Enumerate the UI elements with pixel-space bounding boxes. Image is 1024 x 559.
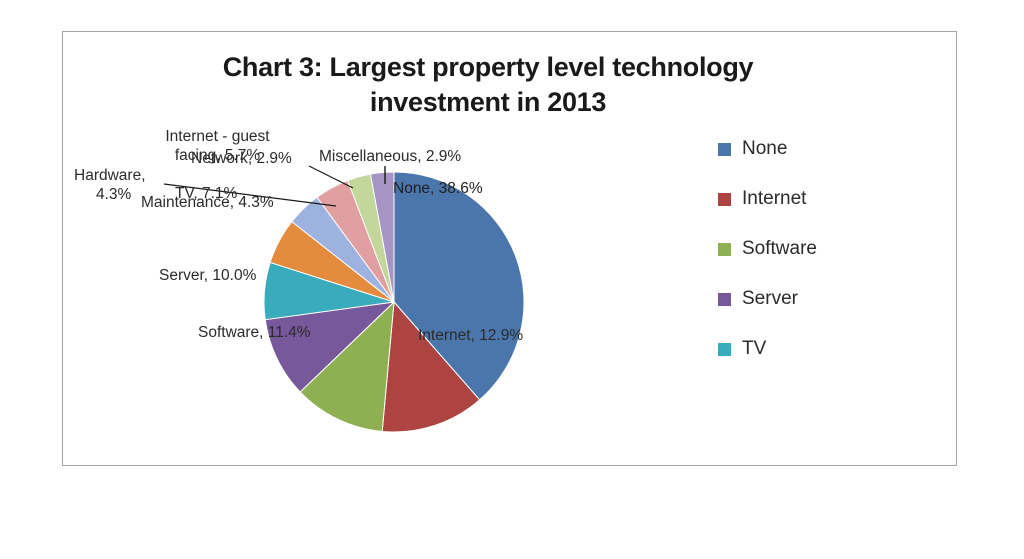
- data-label-none: None, 38.6%: [393, 180, 483, 199]
- data-label-hardware-line-1: Hardware,: [74, 167, 146, 186]
- data-label-internet-guest-line-1: Internet - guest: [145, 128, 290, 147]
- chart-title: Chart 3: Largest property level technolo…: [83, 50, 893, 120]
- legend-item-label: TV: [742, 338, 766, 360]
- legend-swatch-icon: [718, 193, 731, 206]
- legend-swatch-icon: [718, 343, 731, 356]
- chart-frame: Chart 3: Largest property level technolo…: [62, 31, 957, 466]
- data-label-network: Network, 2.9%: [191, 150, 292, 169]
- legend-swatch-icon: [718, 293, 731, 306]
- data-label-server: Server, 10.0%: [159, 267, 256, 286]
- legend-item-software[interactable]: Software: [718, 224, 918, 274]
- chart-title-line-1: Chart 3: Largest property level technolo…: [83, 50, 893, 85]
- legend-swatch-icon: [718, 143, 731, 156]
- legend-item-label: Server: [742, 288, 798, 310]
- legend-item-none[interactable]: None: [718, 124, 918, 174]
- pie-chart: [263, 171, 525, 433]
- data-label-miscellaneous: Miscellaneous, 2.9%: [319, 148, 461, 167]
- chart-legend: NoneInternetSoftwareServerTV: [718, 124, 918, 374]
- legend-swatch-icon: [718, 243, 731, 256]
- data-label-internet: Internet, 12.9%: [418, 327, 523, 346]
- legend-item-tv[interactable]: TV: [718, 324, 918, 374]
- legend-item-label: None: [742, 138, 787, 160]
- data-label-software: Software, 11.4%: [198, 324, 311, 343]
- chart-title-line-2: investment in 2013: [83, 85, 893, 120]
- data-label-maintenance: Maintenance, 4.3%: [141, 194, 274, 213]
- legend-item-label: Internet: [742, 188, 806, 210]
- legend-item-internet[interactable]: Internet: [718, 174, 918, 224]
- data-label-hardware-line-2: 4.3%: [96, 186, 146, 205]
- legend-item-server[interactable]: Server: [718, 274, 918, 324]
- pie-svg: [263, 171, 525, 433]
- legend-item-label: Software: [742, 238, 817, 260]
- data-label-hardware: Hardware, 4.3%: [74, 167, 146, 205]
